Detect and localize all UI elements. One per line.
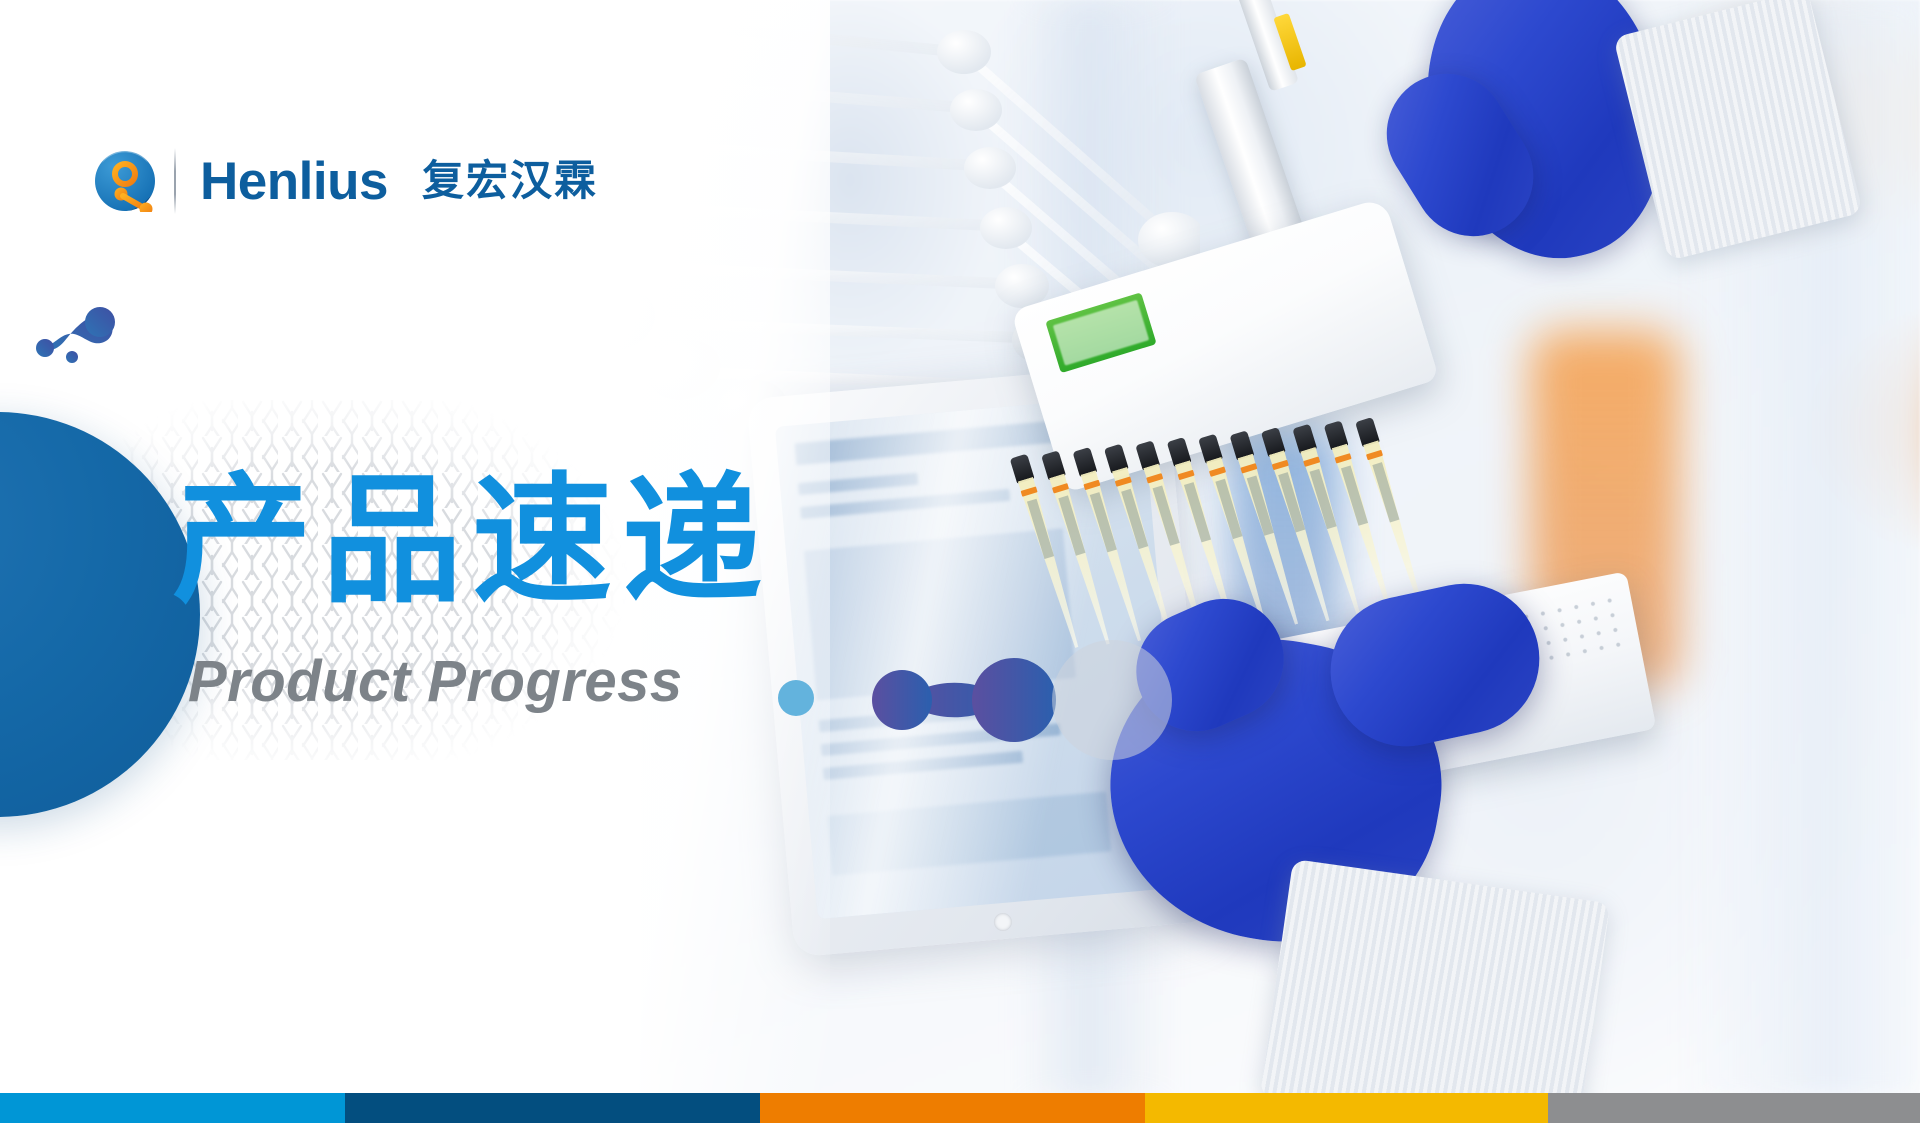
slide-canvas: Henlius 复宏汉霖 产品速递 Product Progress (0, 0, 1920, 1123)
brand-lockup[interactable]: Henlius 复宏汉霖 (94, 148, 598, 214)
segment-light-blue (0, 1093, 345, 1123)
sleeve-cuff-lower (1260, 859, 1610, 1123)
segment-gray (1548, 1093, 1920, 1123)
page-subtitle: Product Progress (188, 653, 683, 711)
page-title: 产品速递 (172, 472, 772, 612)
molecule-icon-small (34, 300, 124, 370)
brand-name-cn: 复宏汉霖 (422, 160, 598, 202)
segment-dark-blue (345, 1093, 760, 1123)
tablet-home-button (993, 912, 1013, 932)
cyan-dot (778, 680, 814, 716)
segment-yellow (1145, 1093, 1548, 1123)
brand-name-en: Henlius (200, 155, 388, 208)
molecule-icon-large (862, 650, 1082, 750)
brand-divider (174, 148, 176, 214)
ghost-circle (1052, 640, 1172, 760)
segment-orange (760, 1093, 1145, 1123)
pipette-green-label (1045, 292, 1156, 373)
bottom-color-bar (0, 1093, 1920, 1123)
henlius-molecule-logo-icon (94, 150, 156, 212)
